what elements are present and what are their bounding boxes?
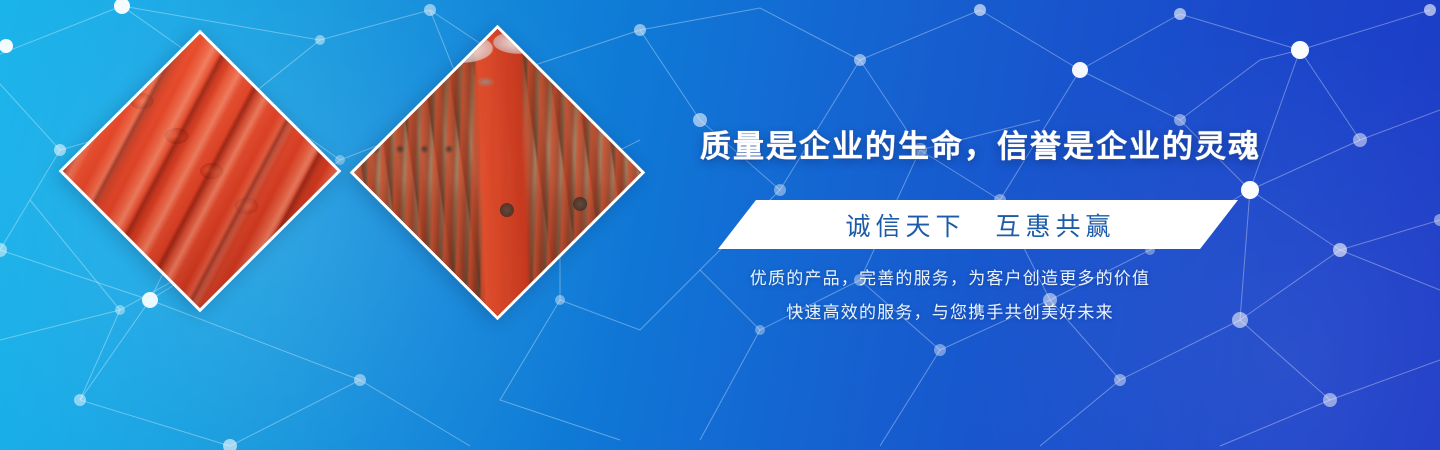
subtitle-line-2: 快速高效的服务，与您携手共创美好未来 [700, 296, 1200, 330]
subtitle-line-1: 优质的产品，完善的服务，为客户创造更多的价值 [700, 262, 1200, 296]
product-photo-couplings [59, 30, 342, 313]
ribbon-label: 诚信天下 互惠共赢 [718, 200, 1238, 249]
page-title: 质量是企业的生命，信誉是企业的灵魂 [700, 128, 1200, 167]
product-photo-pallets [350, 25, 646, 321]
promotional-banner: 质量是企业的生命，信誉是企业的灵魂 诚信天下 互惠共赢 优质的产品，完善的服务，… [0, 0, 1440, 450]
headline-block: 质量是企业的生命，信誉是企业的灵魂 [700, 128, 1200, 167]
subtitle-block: 优质的产品，完善的服务，为客户创造更多的价值 快速高效的服务，与您携手共创美好未… [700, 262, 1200, 330]
couplings-image [59, 30, 342, 313]
slogan-ribbon: 诚信天下 互惠共赢 [718, 200, 1238, 249]
pallets-image [350, 25, 646, 321]
